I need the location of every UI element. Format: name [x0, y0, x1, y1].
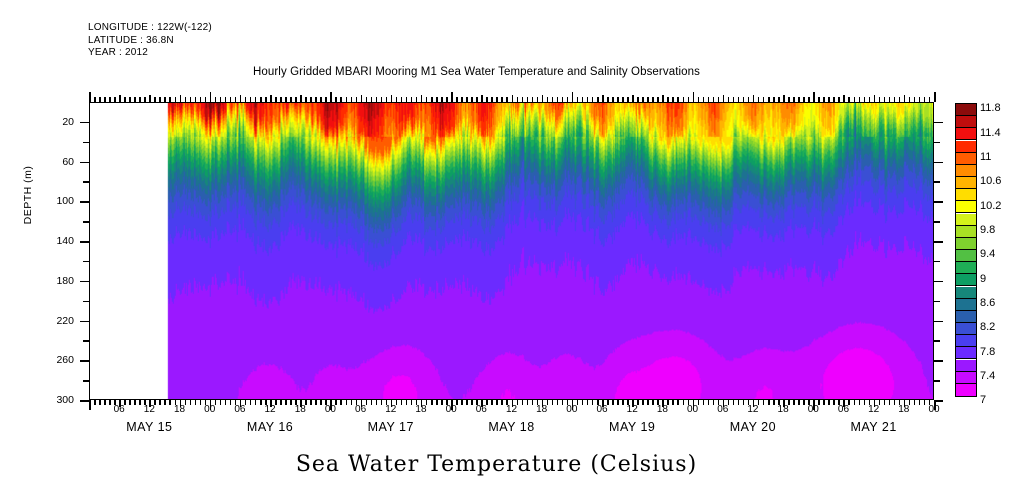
axis-tick [205, 97, 207, 102]
colorbar-swatch [956, 311, 976, 323]
axis-tick [838, 97, 840, 102]
axis-tick [436, 97, 438, 102]
axis-tick [833, 97, 835, 102]
axis-tick [542, 95, 544, 102]
axis-tick [451, 92, 453, 102]
chart-caption: Sea Water Temperature (Celsius) [0, 452, 1009, 477]
axis-tick [114, 97, 116, 102]
axis-tick [491, 97, 493, 102]
axis-tick [522, 97, 524, 102]
axis-tick [89, 92, 91, 102]
axis-tick [703, 97, 705, 102]
station-metadata: LONGITUDE : 122W(-122) LATITUDE : 36.8N … [88, 22, 212, 60]
axis-tick [220, 97, 222, 102]
axis-tick [104, 97, 106, 102]
colorbar-swatch [956, 335, 976, 347]
axis-tick [245, 97, 247, 102]
axis-tick [94, 97, 96, 102]
axis-tick [688, 97, 690, 102]
y-axis-tick-label: 220 [56, 315, 74, 327]
axis-tick [80, 201, 89, 203]
axis-tick [854, 97, 856, 102]
x-axis-hour-label: 00 [446, 404, 457, 415]
colorbar-swatch [956, 384, 976, 396]
axis-tick [934, 380, 940, 382]
x-axis-day-label: MAY 19 [609, 420, 655, 434]
axis-tick [83, 142, 89, 144]
axis-tick [567, 97, 569, 102]
axis-tick [562, 97, 564, 102]
axis-tick [119, 95, 121, 102]
colorbar-swatch [956, 238, 976, 250]
axis-tick [758, 97, 760, 102]
colorbar-swatch [956, 226, 976, 238]
axis-tick [884, 97, 886, 102]
axis-tick [371, 97, 373, 102]
colorbar-swatch [956, 287, 976, 299]
axis-tick [577, 97, 579, 102]
x-axis-hour-label: 18 [898, 404, 909, 415]
axis-tick [109, 97, 111, 102]
x-axis-hour-labels: 0612180006121800061218000612180006121800… [89, 404, 934, 418]
x-axis-hour-label: 18 [415, 404, 426, 415]
colorbar-swatch [956, 347, 976, 359]
axis-tick [859, 97, 861, 102]
axis-tick [808, 97, 810, 102]
axis-tick [80, 281, 89, 283]
axis-tick [843, 95, 845, 102]
axis-tick [889, 97, 891, 102]
axis-tick [763, 97, 765, 102]
axis-tick [83, 380, 89, 382]
axis-tick [582, 97, 584, 102]
axis-tick [139, 97, 141, 102]
axis-tick [934, 360, 943, 362]
x-axis-day-label: MAY 18 [488, 420, 534, 434]
x-axis-hour-label: 12 [627, 404, 638, 415]
axis-tick [934, 340, 940, 342]
x-axis-day-label: MAY 21 [850, 420, 896, 434]
y-axis-tick-label: 300 [56, 394, 74, 406]
axis-tick [768, 97, 770, 102]
axis-tick [230, 97, 232, 102]
colorbar-swatch [956, 141, 976, 153]
colorbar-tick-label: 9.4 [980, 248, 995, 260]
axis-tick [456, 97, 458, 102]
x-axis-hour-label: 12 [747, 404, 758, 415]
axis-tick [295, 97, 297, 102]
colorbar-swatch [956, 262, 976, 274]
axis-tick [346, 97, 348, 102]
page-title: Hourly Gridded MBARI Mooring M1 Sea Wate… [0, 66, 1009, 78]
axis-tick [708, 97, 710, 102]
colorbar-swatch [956, 165, 976, 177]
axis-tick [698, 97, 700, 102]
x-axis-hour-label: 06 [838, 404, 849, 415]
colorbar-tick-label: 11.8 [980, 102, 1001, 114]
axis-tick [99, 97, 101, 102]
axis-tick [723, 95, 725, 102]
colorbar-tick-label: 10.6 [980, 175, 1001, 187]
x-axis-hour-label: 12 [385, 404, 396, 415]
colorbar [955, 103, 977, 397]
axis-tick [129, 97, 131, 102]
y-axis-tick-label: 180 [56, 275, 74, 287]
axis-tick [813, 92, 815, 102]
axis-tick [557, 97, 559, 102]
y-axis-tick-label: 20 [62, 116, 74, 128]
axis-tick [783, 95, 785, 102]
axis-tick [175, 97, 177, 102]
axis-tick [657, 97, 659, 102]
axis-tick [647, 97, 649, 102]
axis-tick [83, 301, 89, 303]
axis-tick [466, 97, 468, 102]
axis-tick [320, 97, 322, 102]
axis-tick [934, 181, 940, 183]
axis-tick [934, 201, 943, 203]
axis-tick [667, 97, 669, 102]
x-axis-day-label: MAY 20 [730, 420, 776, 434]
axis-tick [798, 97, 800, 102]
axis-tick [501, 97, 503, 102]
axis-tick [919, 97, 921, 102]
x-axis-day-labels: MAY 15MAY 16MAY 17MAY 18MAY 19MAY 20MAY … [89, 420, 934, 438]
axis-tick [693, 92, 695, 102]
axis-tick [225, 97, 227, 102]
x-axis-hour-label: 18 [174, 404, 185, 415]
x-axis-hour-label: 06 [355, 404, 366, 415]
axis-tick [753, 95, 755, 102]
axis-tick [481, 95, 483, 102]
y-axis-tick-label: 260 [56, 354, 74, 366]
axis-tick [773, 97, 775, 102]
axis-tick [154, 97, 156, 102]
axis-tick [874, 95, 876, 102]
axis-tick [80, 162, 89, 164]
axis-tick [602, 95, 604, 102]
axis-tick [461, 97, 463, 102]
axis-tick [80, 241, 89, 243]
axis-tick [83, 221, 89, 223]
colorbar-swatch [956, 128, 976, 140]
axis-tick [527, 97, 529, 102]
axis-tick [446, 97, 448, 102]
axis-tick [733, 97, 735, 102]
latitude-line: LATITUDE : 36.8N [88, 35, 212, 48]
axis-tick [300, 95, 302, 102]
y-axis-tick-label: 140 [56, 235, 74, 247]
axis-tick [240, 95, 242, 102]
axis-tick [215, 97, 217, 102]
axis-tick [662, 95, 664, 102]
colorbar-swatch [956, 177, 976, 189]
axis-tick [652, 97, 654, 102]
axis-tick [683, 97, 685, 102]
axis-tick [713, 97, 715, 102]
x-axis-hour-label: 18 [778, 404, 789, 415]
axis-tick [738, 97, 740, 102]
axis-tick [149, 95, 151, 102]
axis-tick [677, 97, 679, 102]
x-axis-hour-label: 12 [506, 404, 517, 415]
axis-tick [426, 97, 428, 102]
x-axis-hour-label: 00 [204, 404, 215, 415]
axis-tick [934, 221, 940, 223]
axis-tick [879, 97, 881, 102]
axis-tick [164, 97, 166, 102]
axis-tick [848, 97, 850, 102]
axis-tick [195, 97, 197, 102]
axis-tick [552, 97, 554, 102]
axis-tick [144, 97, 146, 102]
axis-tick [894, 97, 896, 102]
axis-tick [778, 97, 780, 102]
caption-text: Sea Water Temperature (Celsius) [296, 452, 697, 477]
axis-tick [270, 95, 272, 102]
y-axis-tick-label: 60 [62, 156, 74, 168]
axis-tick [80, 400, 89, 402]
x-axis-hour-label: 12 [144, 404, 155, 415]
axis-tick [622, 97, 624, 102]
x-axis-hour-label: 06 [234, 404, 245, 415]
axis-tick [642, 97, 644, 102]
longitude-line: LONGITUDE : 122W(-122) [88, 22, 212, 35]
axis-tick [934, 261, 940, 263]
axis-tick [159, 97, 161, 102]
year-line: YEAR : 2012 [88, 47, 212, 60]
axis-tick [486, 97, 488, 102]
axis-tick [441, 97, 443, 102]
axis-tick [718, 97, 720, 102]
axis-tick [672, 97, 674, 102]
x-axis-hour-label: 18 [657, 404, 668, 415]
colorbar-swatch [956, 116, 976, 128]
axis-tick [788, 97, 790, 102]
axis-tick [366, 97, 368, 102]
axis-tick [934, 301, 940, 303]
axis-tick [134, 97, 136, 102]
axis-tick [83, 261, 89, 263]
x-axis-hour-label: 12 [868, 404, 879, 415]
axis-tick [124, 97, 126, 102]
axis-tick [83, 340, 89, 342]
colorbar-tick-label: 8.2 [980, 321, 995, 333]
axis-tick [315, 97, 317, 102]
axis-tick [325, 97, 327, 102]
y-axis-labels: 2060100140180220260300 [0, 102, 86, 400]
axis-tick [612, 97, 614, 102]
axis-tick [386, 97, 388, 102]
x-axis-hour-label: 00 [808, 404, 819, 415]
axis-tick [823, 97, 825, 102]
x-axis-hour-label: 00 [566, 404, 577, 415]
axis-tick [864, 97, 866, 102]
axis-tick [335, 97, 337, 102]
axis-tick [180, 95, 182, 102]
axis-tick [728, 97, 730, 102]
axis-tick [869, 97, 871, 102]
axis-tick [411, 97, 413, 102]
axis-tick [235, 97, 237, 102]
x-axis-hour-label: 06 [596, 404, 607, 415]
axis-tick [80, 122, 89, 124]
axis-tick [255, 97, 257, 102]
colorbar-swatch [956, 201, 976, 213]
axis-tick [305, 97, 307, 102]
colorbar-tick-label: 7.4 [980, 370, 995, 382]
axis-tick [934, 92, 936, 102]
axis-tick [396, 97, 398, 102]
colorbar-tick-label: 11.4 [980, 127, 1001, 139]
axis-tick [607, 97, 609, 102]
axis-tick [934, 122, 943, 124]
x-axis-hour-label: 18 [295, 404, 306, 415]
axis-tick [637, 97, 639, 102]
axis-tick [190, 97, 192, 102]
x-axis-hour-label: 12 [265, 404, 276, 415]
axis-tick [80, 321, 89, 323]
colorbar-swatch [956, 274, 976, 286]
colorbar-swatch [956, 360, 976, 372]
x-axis-hour-label: 00 [687, 404, 698, 415]
x-axis-day-label: MAY 16 [247, 420, 293, 434]
axis-tick [185, 97, 187, 102]
colorbar-tick-label: 9 [980, 273, 986, 285]
axis-tick [537, 97, 539, 102]
axis-tick [80, 360, 89, 362]
colorbar-swatch [956, 153, 976, 165]
colorbar-tick-label: 7 [980, 394, 986, 406]
axis-tick [532, 97, 534, 102]
plot-title-text: Hourly Gridded MBARI Mooring M1 Sea Wate… [253, 66, 700, 78]
axis-tick [330, 92, 332, 102]
colorbar-swatch [956, 189, 976, 201]
axis-tick [381, 97, 383, 102]
axis-tick [476, 97, 478, 102]
axis-tick [376, 97, 378, 102]
axis-tick [310, 97, 312, 102]
axis-tick [83, 181, 89, 183]
axis-tick [627, 97, 629, 102]
axis-tick [899, 97, 901, 102]
colorbar-swatch [956, 299, 976, 311]
axis-tick [169, 97, 171, 102]
axis-tick [506, 97, 508, 102]
axis-tick [421, 95, 423, 102]
axis-tick [260, 97, 262, 102]
axis-tick [743, 97, 745, 102]
axis-tick [351, 97, 353, 102]
axis-tick [496, 97, 498, 102]
axis-tick [356, 97, 358, 102]
axis-tick [818, 97, 820, 102]
axis-tick [803, 97, 805, 102]
axis-tick [210, 92, 212, 102]
axis-tick [929, 97, 931, 102]
axis-tick [200, 97, 202, 102]
axis-tick [572, 92, 574, 102]
axis-tick [934, 321, 943, 323]
axis-tick [471, 97, 473, 102]
axis-tick [934, 162, 943, 164]
temperature-contour-canvas [90, 103, 933, 399]
axis-tick [828, 97, 830, 102]
axis-tick [280, 97, 282, 102]
axis-tick [547, 97, 549, 102]
axis-tick [265, 97, 267, 102]
axis-tick [361, 95, 363, 102]
axis-tick [512, 95, 514, 102]
axis-tick [934, 241, 943, 243]
axis-tick [924, 97, 926, 102]
colorbar-tick-label: 8.6 [980, 297, 995, 309]
x-axis-hour-label: 06 [114, 404, 125, 415]
axis-tick [597, 97, 599, 102]
colorbar-swatch [956, 104, 976, 116]
x-axis-hour-label: 06 [717, 404, 728, 415]
axis-tick [904, 95, 906, 102]
axis-tick [909, 97, 911, 102]
colorbar-swatch [956, 323, 976, 335]
contour-plot [89, 102, 934, 400]
x-axis-hour-label: 06 [476, 404, 487, 415]
x-axis-hour-label: 00 [325, 404, 336, 415]
axis-tick [401, 97, 403, 102]
x-axis-day-label: MAY 15 [126, 420, 172, 434]
axis-tick [587, 97, 589, 102]
x-axis-day-label: MAY 17 [368, 420, 414, 434]
axis-tick [748, 97, 750, 102]
colorbar-tick-label: 7.8 [980, 346, 995, 358]
axis-tick [793, 97, 795, 102]
axis-tick [416, 97, 418, 102]
axis-tick [340, 97, 342, 102]
axis-tick [914, 97, 916, 102]
axis-tick [934, 281, 943, 283]
axis-tick [617, 97, 619, 102]
colorbar-tick-label: 10.2 [980, 200, 1001, 212]
axis-tick [290, 97, 292, 102]
colorbar-swatch [956, 250, 976, 262]
axis-tick [406, 97, 408, 102]
y-axis-tick-label: 100 [56, 195, 74, 207]
axis-tick [391, 95, 393, 102]
axis-tick [250, 97, 252, 102]
colorbar-tick-label: 11 [980, 151, 991, 163]
colorbar-labels: 11.811.41110.610.29.89.498.68.27.87.47 [980, 103, 1009, 397]
x-axis-hour-label: 18 [536, 404, 547, 415]
axis-tick [275, 97, 277, 102]
axis-tick [517, 97, 519, 102]
axis-tick [934, 142, 940, 144]
axis-tick [285, 97, 287, 102]
colorbar-tick-label: 9.8 [980, 224, 995, 236]
axis-tick [431, 97, 433, 102]
axis-tick [632, 95, 634, 102]
axis-tick [592, 97, 594, 102]
x-axis-hour-label: 00 [928, 404, 939, 415]
colorbar-swatch [956, 214, 976, 226]
colorbar-swatch [956, 372, 976, 384]
